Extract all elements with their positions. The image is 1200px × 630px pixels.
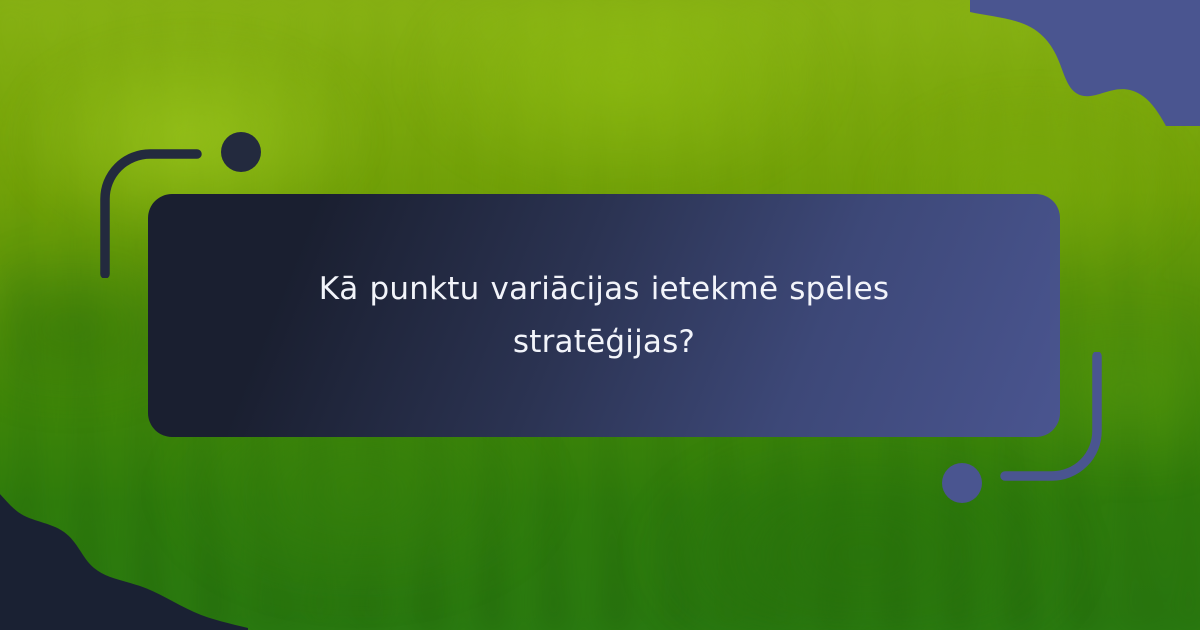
blob-shape-icon-bottom-left	[0, 482, 248, 630]
social-card-canvas: Kā punktu variācijas ietekmē spēles stra…	[0, 0, 1200, 630]
circle-dot-icon-top-left	[221, 132, 261, 172]
circle-dot-icon-bottom-right	[942, 463, 982, 503]
question-card: Kā punktu variācijas ietekmē spēles stra…	[148, 194, 1060, 437]
blob-shape-icon-top-right	[970, 0, 1200, 126]
question-title: Kā punktu variācijas ietekmē spēles stra…	[240, 263, 968, 367]
